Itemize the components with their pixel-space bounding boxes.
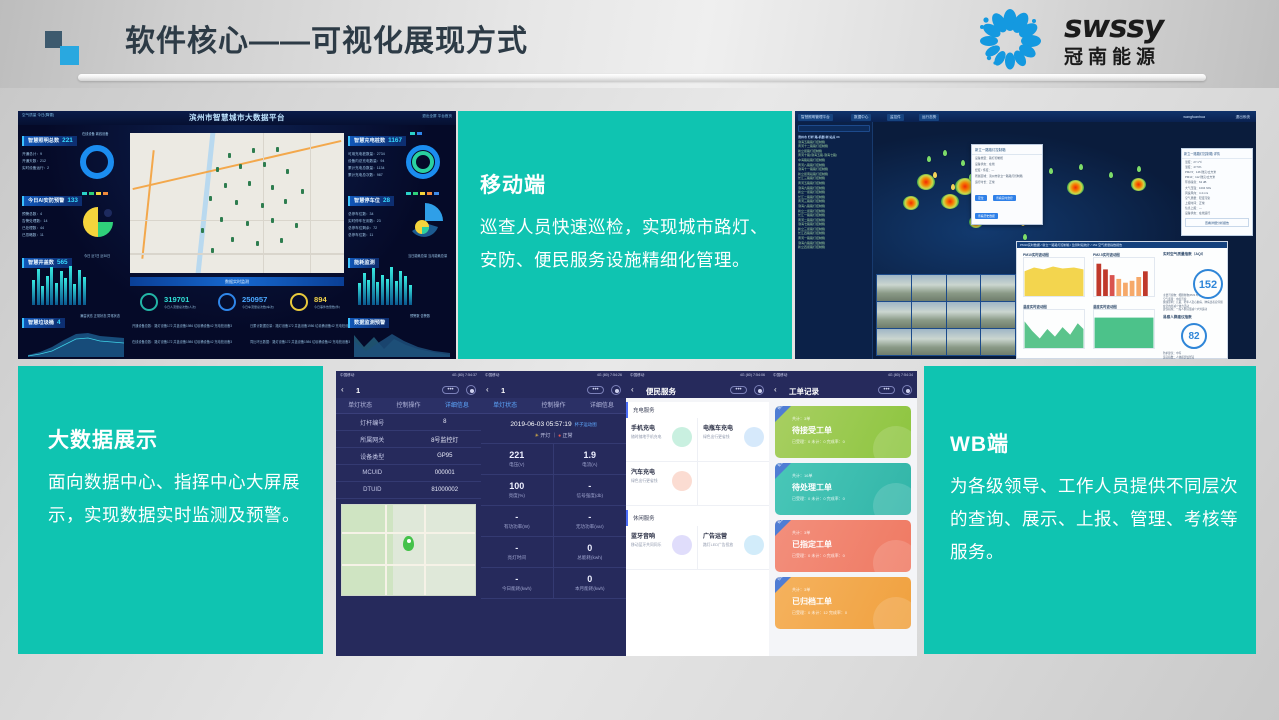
table-row: DTUID 81000002 xyxy=(336,482,481,499)
dashboard-card-manhole: 智慧井盖数565 今日 近7日 近30日 xyxy=(22,251,126,269)
camera-cell[interactable] xyxy=(947,329,981,355)
row-value: GP95 xyxy=(409,453,482,459)
logo-english-name: swssy xyxy=(1064,10,1163,44)
company-logo: swssy 冠南能源 xyxy=(964,8,1224,74)
card-title: 待处理工单 xyxy=(792,482,832,493)
service-item-ad-operation[interactable]: 广告运营 路灯LED广告投放 xyxy=(698,526,769,570)
metric-value: 221 xyxy=(481,450,553,460)
table-row: 设备类型 GP95 xyxy=(336,448,481,465)
row-value: 8 xyxy=(409,419,482,425)
phone-screenshot-public-services[interactable]: 中国移动 4G (80) 7:54:06 ‹ 便民服务 ••• 充电服务 手机充… xyxy=(626,371,769,656)
more-menu-icon[interactable]: ••• xyxy=(730,386,747,394)
tab-control[interactable]: 控制操作 xyxy=(384,398,432,413)
chart-panel-title: PM10实时数据 / 新立一路路灯控制箱 / 监测时段统计 / 152 空气质量… xyxy=(1017,242,1227,248)
card-legend xyxy=(406,191,441,195)
camera-cell[interactable] xyxy=(947,302,981,328)
card-legend: 满溢状态 正常状态 异常状态 xyxy=(80,313,120,318)
map-marker[interactable] xyxy=(220,217,223,222)
metric-cell: 221 电压(V) xyxy=(481,444,554,475)
trashbin-area-chart xyxy=(28,325,124,357)
phone-statusbar: 中国移动 4G (80) 7:54:37 xyxy=(336,371,481,381)
service-item-phone-charge[interactable]: 手机充电 随时随地手机充电 xyxy=(626,418,698,462)
charging-donut-inner xyxy=(412,151,434,173)
card-header: 智慧照明总数221 xyxy=(22,136,77,146)
phone-location-map[interactable] xyxy=(341,504,476,596)
phone-tabs[interactable]: 单灯状态 控制操作 详细信息 xyxy=(336,398,481,414)
statusbar-carrier: 中国移动 xyxy=(340,373,354,378)
card-header: 今日AI安防预警133 xyxy=(22,196,82,206)
card-decoration-blob xyxy=(873,540,911,572)
card-footer: 已受理：0 未计：0 完成率：0 xyxy=(792,496,845,502)
gis-info-panel[interactable]: 新立一路路灯控制箱 详情 温度：27.1℃ 湿度：47.5% PM2.5：146… xyxy=(1181,148,1253,236)
map-marker[interactable] xyxy=(301,189,304,194)
chart-panel-header: PM10实时数据 / 新立一路路灯控制箱 / 监测时段统计 / 152 空气质量… xyxy=(1017,242,1227,248)
lamp-state: ☀ 开灯 ｜ ● 正常 xyxy=(481,432,626,439)
pm10-plot xyxy=(1023,257,1085,297)
map-marker-green[interactable] xyxy=(961,160,965,166)
humidity-plot xyxy=(1093,309,1155,349)
lamp-metrics-grid: 221 电压(V) 1.9 电流(A) 100 亮度(%) - 信号强度(db)… xyxy=(481,444,626,599)
aqi-label-2: 易感人群建议指数 xyxy=(1163,315,1225,320)
map-marker[interactable] xyxy=(271,185,274,190)
table-row: 灯杆编号 8 xyxy=(336,414,481,431)
metric-cell: - 亮灯时间 xyxy=(481,537,554,568)
phone-nav-title: 1 xyxy=(356,386,360,395)
section-header-charging: 充电服务 xyxy=(626,402,769,418)
dashboard-topbar-actions[interactable]: 退出全屏 平台首页 xyxy=(422,114,452,119)
metric-label: 今日能耗(kwh) xyxy=(481,586,553,592)
header-divider-bar xyxy=(78,74,1206,81)
row-value: 81000002 xyxy=(409,487,482,493)
map-marker[interactable] xyxy=(280,238,283,243)
map-road xyxy=(130,253,344,254)
ebike-charge-icon xyxy=(744,427,764,447)
card-decoration-blob xyxy=(873,597,911,629)
map-marker[interactable] xyxy=(256,241,259,246)
map-marker[interactable] xyxy=(261,203,264,208)
map-marker[interactable] xyxy=(239,164,242,169)
slide-header: 软件核心——可视化展现方式 xyxy=(0,0,1279,88)
map-marker[interactable] xyxy=(271,218,274,223)
map-marker[interactable] xyxy=(295,223,298,228)
card-header: 智慧充电桩数1167 xyxy=(348,136,406,146)
service-item-car-charge[interactable]: 汽车充电 绿色出行更省钱 xyxy=(626,462,698,506)
lamp-timestamp: 2019-06-03 05:57:19杯子运动图 xyxy=(481,421,626,428)
dashboard-card-lighting: 智慧照明总数221 在线设备 离线设备 开通总计：9 开通天数：212 实时设备… xyxy=(22,129,126,172)
card-subtitle: 共计：3单 xyxy=(792,530,810,536)
map-location-pin[interactable] xyxy=(403,536,414,551)
metric-value: 100 xyxy=(481,481,553,491)
dashboard-canvas: 空气质量 今日(降雪) 滨州市智慧城市大数据平台 退出全屏 平台首页 智慧照明总… xyxy=(18,111,456,359)
camera-cell[interactable] xyxy=(877,302,911,328)
map-marker-green[interactable] xyxy=(1109,172,1113,178)
statusbar-indicators: 4G (80) 7:54:26 xyxy=(597,373,622,377)
card-subtitle: 共计：3单 xyxy=(792,416,810,422)
tab-detail[interactable]: 详细信息 xyxy=(433,398,481,413)
lighting-donut-chart xyxy=(80,145,114,179)
section-header-leisure: 休闲服务 xyxy=(626,510,769,526)
gis-nav-monitor[interactable]: 监控件 xyxy=(887,114,904,121)
phone-statusbar: 中国移动 4G (80) 7:54:34 xyxy=(769,371,917,381)
tab-lamp-status[interactable]: 单灯状态 xyxy=(336,398,384,413)
camera-grid[interactable] xyxy=(876,274,1016,356)
page-title: 软件核心——可视化展现方式 xyxy=(125,16,528,60)
lamp-timestamp-row: 2019-06-03 05:57:19杯子运动图 ☀ 开灯 ｜ ● 正常 xyxy=(481,414,626,444)
energy-bar-chart xyxy=(358,265,412,305)
gis-user-menu[interactable]: wangfuanhua xyxy=(1180,114,1208,120)
dashboard-card-trashbin: 智慧垃圾桶4 满溢状态 正常状态 异常状态 xyxy=(22,311,126,329)
heatmap-cluster xyxy=(903,196,919,210)
map-marker[interactable] xyxy=(211,248,214,253)
card-title: 已指定工单 xyxy=(792,539,832,550)
popup-history-button[interactable]: 查看历史数据 xyxy=(975,213,998,220)
mini-chart-humidity: 湿度实时波动图 xyxy=(1093,304,1155,354)
phone-screenshot-lamp-status[interactable]: 中国移动 4G (80) 7:54:26 ‹ 1 ••• 单灯状态 控制操作 详… xyxy=(481,371,626,656)
card-legend: 今日 近7日 近30日 xyxy=(84,253,110,258)
pm25-plot xyxy=(1093,257,1155,297)
map-marker[interactable] xyxy=(228,153,231,158)
close-circle-icon[interactable] xyxy=(902,385,912,395)
table-row: 所属网关 8号监控灯 xyxy=(336,431,481,448)
gis-map-canvas[interactable]: 新立一路路灯控制箱 设备类型：路灯控制柜 设备状态：在线 经度 / 纬度：— 所… xyxy=(873,122,1256,359)
tab-detail[interactable]: 详细信息 xyxy=(578,398,626,413)
service-row: 蓝牙音响 移动蓝牙共同同乐 广告运营 路灯LED广告投放 xyxy=(626,526,769,570)
ai-security-pie-chart xyxy=(78,205,118,239)
aqi-value-gauge: 152 xyxy=(1193,269,1223,299)
car-charge-icon xyxy=(672,471,692,491)
phone-statusbar: 中国移动 4G (80) 7:54:26 xyxy=(481,371,626,381)
statusbar-indicators: 4G (80) 7:54:37 xyxy=(452,373,477,377)
parking-pie-chart xyxy=(404,201,446,241)
work-order-card-archived[interactable]: 归档 共计：3单 已归档工单 已受理：0 未计：12 完成率：0 xyxy=(775,577,911,629)
metric-cell: - 无功功率(var) xyxy=(554,506,627,537)
back-icon[interactable]: ‹ xyxy=(486,385,489,394)
row-key: DTUID xyxy=(336,487,409,493)
metric-label: 亮度(%) xyxy=(481,493,553,499)
phone-nav-title: 便民服务 xyxy=(646,386,676,397)
metric-label: 无功功率(var) xyxy=(554,524,627,530)
metric-value: 0 xyxy=(554,574,627,584)
advertising-icon xyxy=(744,535,764,555)
map-marker[interactable] xyxy=(231,237,234,242)
phone-charge-icon xyxy=(672,427,692,447)
big-number-1: 319701 今日人流量总次数(人次) xyxy=(164,295,196,309)
gis-nav-status[interactable]: 运行态势 xyxy=(919,114,939,121)
big-number-3: 894 今日事件告警数(件) xyxy=(314,295,340,309)
camera-cell[interactable] xyxy=(877,329,911,355)
work-order-card-pending-process[interactable]: 处理 共计：16单 待处理工单 已受理：0 未计：0 完成率：0 xyxy=(775,463,911,515)
bluetooth-speaker-icon xyxy=(672,535,692,555)
tree-item[interactable]: 新立四街路灯控制箱 xyxy=(798,245,870,250)
gis-device-tree[interactable]: 滨州市 灯杆 路-机器 树 站点 33 渤海五路路灯控制箱 黄河十二路路灯控制箱… xyxy=(798,135,870,250)
dashboard-card-ai-security: 今日AI安防预警133 预警总数：4 告警处理数：14 已处理数：44 已忽略数… xyxy=(22,189,126,239)
map-marker-green[interactable] xyxy=(927,156,931,162)
phone-navbar: ‹ 便民服务 ••• xyxy=(626,381,769,398)
mobile-panel-body: 巡查人员快速巡检，实现城市路灯、安防、便民服务设施精细化管理。 xyxy=(480,211,780,277)
dashboard-city-map[interactable] xyxy=(130,133,344,273)
map-road xyxy=(130,220,344,221)
row-key: MCUID xyxy=(336,470,409,476)
tab-control[interactable]: 控制操作 xyxy=(529,398,577,413)
camera-cell[interactable] xyxy=(981,275,1015,301)
metric-label: 信号强度(db) xyxy=(554,493,627,499)
water-drop-radial-logo-icon xyxy=(964,8,1056,74)
service-item-bluetooth-audio[interactable]: 蓝牙音响 移动蓝牙共同同乐 xyxy=(626,526,698,570)
phone-nav-title: 工单记录 xyxy=(789,386,819,397)
gis-topbar: 智慧照明管理平台 数据中心 监控件 运行态势 wangfuanhua 退出系统 xyxy=(795,111,1256,122)
mobile-text-block: 移动端 巡查人员快速巡检，实现城市路灯、安防、便民服务设施精细化管理。 xyxy=(480,169,780,277)
close-circle-icon[interactable] xyxy=(754,385,764,395)
temp-plot xyxy=(1023,309,1085,349)
flow-donut-3 xyxy=(290,293,308,311)
camera-cell[interactable] xyxy=(981,302,1015,328)
dashboard-screenshot-panel[interactable]: 空气质量 今日(降雪) 滨州市智慧城市大数据平台 退出全屏 平台首页 智慧照明总… xyxy=(18,111,456,359)
camera-cell[interactable] xyxy=(947,275,981,301)
map-marker[interactable] xyxy=(248,181,251,186)
wb-text-block: WB端 为各级领导、工作人员提供不同层次的查询、展示、上报、管理、考核等服务。 xyxy=(950,428,1240,569)
metric-label: 有功功率(W) xyxy=(481,524,553,530)
gis-canvas: 智慧照明管理平台 数据中心 监控件 运行态势 wangfuanhua 退出系统 … xyxy=(795,111,1256,359)
metric-cell: 0 总能耗(kwh) xyxy=(554,537,627,568)
dashboard-card-parking: 智慧停车位28 总停车位数：34 实时停车在用数：23 总停车位剩余：72 总停… xyxy=(348,189,452,239)
close-circle-icon[interactable] xyxy=(466,385,476,395)
map-marker-green[interactable] xyxy=(943,150,947,156)
map-marker[interactable] xyxy=(276,147,279,152)
metric-value: - xyxy=(481,574,553,584)
decoration-square-blue xyxy=(60,46,79,65)
row-key: 灯杆编号 xyxy=(336,418,409,427)
metric-label: 本月能耗(kwh) xyxy=(554,586,627,592)
header-decoration-squares xyxy=(45,31,79,65)
card-legend: 当日能耗总量 当月能耗总量 xyxy=(408,253,447,258)
map-device-popup[interactable]: 新立一路路灯控制箱 设备类型：路灯控制柜 设备状态：在线 经度 / 纬度：— 所… xyxy=(971,144,1043,225)
service-row: 汽车充电 绿色出行更省钱 xyxy=(626,462,769,506)
popup-live-button[interactable]: 查看实时监控 xyxy=(993,195,1016,202)
service-item-empty xyxy=(698,462,769,506)
map-road xyxy=(385,505,387,595)
metric-cell: 100 亮度(%) xyxy=(481,475,554,506)
card-legend: 预警数 告警数 xyxy=(410,313,430,318)
phone-statusbar: 中国移动 4G (80) 7:54:06 xyxy=(626,371,769,381)
card-legend xyxy=(82,191,110,195)
statusbar-carrier: 中国移动 xyxy=(485,373,499,378)
metric-label: 亮灯时间 xyxy=(481,555,553,561)
logo-wordmark: swssy 冠南能源 xyxy=(1064,10,1163,70)
more-menu-icon[interactable]: ••• xyxy=(442,386,459,394)
popup-title: 新立一路路灯控制箱 xyxy=(972,145,1042,155)
big-number-2: 250957 今日车流量总次数(车次) xyxy=(242,295,274,309)
dashboard-footer-line-2: 日累计数据总量：路灯设备172 井盖设备1986 垃圾桶设备42 充电桩设备3 xyxy=(250,323,353,328)
close-circle-icon[interactable] xyxy=(611,385,621,395)
heatmap-cluster xyxy=(941,194,959,209)
gis-sidebar: 滨州市 灯杆 路-机器 树 站点 33 渤海五路路灯控制箱 黄河十二路路灯控制箱… xyxy=(795,122,873,359)
work-order-card-pending-accept[interactable]: 待办 共计：3单 待接受工单 已受理：0 未计：0 完成率：0 xyxy=(775,406,911,458)
gis-logout-button[interactable]: 退出系统 xyxy=(1233,114,1253,121)
card-footer: 已受理：0 未计：0 完成率：0 xyxy=(792,439,845,445)
more-menu-icon[interactable]: ••• xyxy=(587,386,604,394)
aqi-block: 实时空气质量指数（AQI） 152 主要污染物：细颗粒物(PM2.5)空气质量：… xyxy=(1163,252,1225,359)
mobile-panel-title: 移动端 xyxy=(480,169,780,199)
metric-value: 0 xyxy=(554,543,627,553)
gis-platform-screenshot-panel[interactable]: 智慧照明管理平台 数据中心 监控件 运行态势 wangfuanhua 退出系统 … xyxy=(795,111,1256,359)
lamp-normal-icon: ● xyxy=(558,433,561,439)
device-detail-table: 灯杆编号 8 所属网关 8号监控灯 设备类型 GP95 MCUID 000001… xyxy=(336,414,481,499)
metric-cell: - 有功功率(W) xyxy=(481,506,554,537)
bigdata-text-block: 大数据展示 面向数据中心、指挥中心大屏展示，实现数据实时监测及预警。 xyxy=(48,424,306,532)
map-marker[interactable] xyxy=(286,169,289,174)
logo-chinese-name: 冠南能源 xyxy=(1064,46,1163,70)
phone-navbar: ‹ 工单记录 ••• xyxy=(769,381,917,398)
map-road xyxy=(310,133,311,273)
aqi-desc-2: 防护建议：中等适宜指数：人体感觉较舒适紫外线指数：建议防晒出行 xyxy=(1163,352,1225,359)
map-road xyxy=(342,564,475,566)
row-key: 设备类型 xyxy=(336,452,409,461)
metric-label: 电流(A) xyxy=(554,462,627,468)
camera-cell[interactable] xyxy=(912,302,946,328)
air-quality-chart-panel[interactable]: PM10实时数据 / 新立一路路灯控制箱 / 监测时段统计 / 152 空气质量… xyxy=(1016,241,1228,359)
card-decoration-blob xyxy=(873,483,911,515)
map-marker-green[interactable] xyxy=(1049,168,1053,174)
map-marker-yellow[interactable] xyxy=(933,172,937,178)
card-legend xyxy=(410,131,424,135)
metric-value: - xyxy=(481,543,553,553)
phone-navbar: ‹ 1 ••• xyxy=(336,381,481,398)
wb-panel-title: WB端 xyxy=(950,428,1240,458)
map-marker-green[interactable] xyxy=(1023,234,1027,240)
alarm-area-chart xyxy=(354,325,450,357)
card-subtitle: 共计：16单 xyxy=(792,473,812,479)
aqi-label: 实时空气质量指数（AQI） xyxy=(1163,252,1225,257)
camera-cell[interactable] xyxy=(912,329,946,355)
card-title: 待接受工单 xyxy=(792,425,832,436)
map-marker[interactable] xyxy=(224,183,227,188)
row-key: 所属网关 xyxy=(336,435,409,444)
service-row: 手机充电 随时随地手机充电 电瓶车充电 绿色出行更省钱 xyxy=(626,418,769,462)
dashboard-footer-line-4: 同比环比数据：路灯设备172 井盖设备1986 垃圾桶设备42 充电桩设备3 xyxy=(250,339,350,344)
card-decoration-blob xyxy=(873,426,911,458)
bigdata-panel-body: 面向数据中心、指挥中心大屏展示，实现数据实时监测及预警。 xyxy=(48,466,306,532)
flow-donut-1 xyxy=(140,293,158,311)
phone-nav-title: 1 xyxy=(501,386,505,395)
bigdata-panel-title: 大数据展示 xyxy=(48,424,306,454)
card-title: 已归档工单 xyxy=(792,596,832,607)
map-road xyxy=(424,505,426,595)
tab-lamp-status[interactable]: 单灯状态 xyxy=(481,398,529,413)
metric-cell: - 信号强度(db) xyxy=(554,475,627,506)
statusbar-carrier: 中国移动 xyxy=(630,373,644,378)
mobile-terminal-text-panel: 移动端 巡查人员快速巡检，实现城市路灯、安防、便民服务设施精细化管理。 xyxy=(458,111,792,359)
dashboard-center-bar: 数据实时监测 xyxy=(130,277,344,286)
bigdata-text-panel: 大数据展示 面向数据中心、指挥中心大屏展示，实现数据实时监测及预警。 xyxy=(18,366,323,654)
map-road xyxy=(342,532,475,534)
map-highway-2 xyxy=(141,150,155,259)
card-subtitle: 共计：3单 xyxy=(792,587,810,593)
dashboard-big-numbers: 319701 今日人流量总次数(人次) 250957 今日车流量总次数(车次) … xyxy=(130,291,344,317)
map-marker[interactable] xyxy=(216,167,219,172)
map-marker[interactable] xyxy=(235,200,238,205)
info-panel-title: 新立一路路灯控制箱 详情 xyxy=(1182,149,1252,159)
row-value: 000001 xyxy=(409,470,482,476)
more-menu-icon[interactable]: ••• xyxy=(878,386,895,394)
dashboard-title: 滨州市智慧城市大数据平台 xyxy=(18,112,456,123)
heatmap-cluster xyxy=(1131,178,1146,191)
gis-nav-datacenter[interactable]: 数据中心 xyxy=(851,114,871,121)
dashboard-topbar: 空气质量 今日(降雪) 滨州市智慧城市大数据平台 退出全屏 平台首页 xyxy=(18,111,456,125)
mini-chart-temp: 温度实时波动图 xyxy=(1023,304,1085,354)
map-marker-yellow[interactable] xyxy=(951,184,955,190)
card-footer: 已受理：0 未计：12 完成率：0 xyxy=(792,610,847,616)
camera-cell[interactable] xyxy=(981,329,1015,355)
lamp-on-icon: ☀ xyxy=(534,433,538,439)
metric-value: - xyxy=(554,512,627,522)
map-marker-green[interactable] xyxy=(1137,166,1141,172)
metric-cell: - 今日能耗(kwh) xyxy=(481,568,554,599)
phone-tabs[interactable]: 单灯状态 控制操作 详细信息 xyxy=(481,398,626,414)
back-icon[interactable]: ‹ xyxy=(774,385,777,394)
back-icon[interactable]: ‹ xyxy=(341,385,344,394)
card-footer: 已受理：0 未计：0 完成率：0 xyxy=(792,553,845,559)
dashboard-footer-line-1: 开通设备总数：路灯设备172 井盖设备1986 垃圾桶设备42 充电桩设备3 xyxy=(132,323,232,328)
map-marker[interactable] xyxy=(201,228,204,233)
wb-panel-body: 为各级领导、工作人员提供不同层次的查询、展示、上报、管理、考核等服务。 xyxy=(950,470,1240,569)
statusbar-carrier: 中国移动 xyxy=(773,373,787,378)
card-header: 智慧停车位28 xyxy=(348,196,394,206)
popup-locate-button[interactable]: 定位 xyxy=(975,195,987,202)
mini-chart-pm10: PM10实时波动图 xyxy=(1023,252,1085,302)
phone-screenshot-work-orders[interactable]: 中国移动 4G (80) 7:54:34 ‹ 工单记录 ••• 待办 共计：3单… xyxy=(769,371,917,656)
mini-chart-pm25: PM2.5实时波动图 xyxy=(1093,252,1155,302)
row-value: 8号监控灯 xyxy=(409,435,482,444)
dashboard-footer-line-3: 在线设备总数：路灯设备172 井盖设备1986 垃圾桶设备42 充电桩设备3 xyxy=(132,339,232,344)
dashboard-card-alarm: 数据监测预警 预警数 告警数 xyxy=(348,311,452,329)
statusbar-indicators: 4G (80) 7:54:34 xyxy=(888,373,913,377)
map-marker[interactable] xyxy=(252,148,255,153)
work-order-card-assigned[interactable]: 指定 共计：3单 已指定工单 已受理：0 未计：0 完成率：0 xyxy=(775,520,911,572)
flow-donut-2 xyxy=(218,293,236,311)
map-marker[interactable] xyxy=(246,221,249,226)
metric-value: - xyxy=(554,481,627,491)
card-legend: 在线设备 离线设备 xyxy=(82,131,108,136)
metric-label: 总能耗(kwh) xyxy=(554,555,627,561)
dashboard-card-energy: 能耗监测 当日能耗总量 当月能耗总量 xyxy=(348,251,452,269)
service-item-ebike-charge[interactable]: 电瓶车充电 绿色出行更省钱 xyxy=(698,418,769,462)
map-marker-green[interactable] xyxy=(1079,164,1083,170)
metric-value: 1.9 xyxy=(554,450,627,460)
info-row: 设备状态：在线运行 xyxy=(1182,211,1252,216)
metric-cell: 0 本月能耗(kwh) xyxy=(554,568,627,599)
phone-screenshot-device-detail[interactable]: 中国移动 4G (80) 7:54:37 ‹ 1 ••• 单灯状态 控制操作 详… xyxy=(336,371,481,656)
heatmap-cluster xyxy=(1067,180,1084,195)
map-marker[interactable] xyxy=(284,199,287,204)
info-panel-report-button[interactable]: 查看详细分析报告 xyxy=(1185,218,1249,227)
camera-cell[interactable] xyxy=(877,275,911,301)
phone-navbar: ‹ 1 ••• xyxy=(481,381,626,398)
gis-nav-platform[interactable]: 智慧照明管理平台 xyxy=(798,114,833,121)
camera-cell[interactable] xyxy=(912,275,946,301)
manhole-bar-chart xyxy=(32,265,86,305)
statusbar-indicators: 4G (80) 7:54:06 xyxy=(740,373,765,377)
wb-terminal-text-panel: WB端 为各级领导、工作人员提供不同层次的查询、展示、上报、管理、考核等服务。 xyxy=(924,366,1256,654)
back-icon[interactable]: ‹ xyxy=(631,385,634,394)
map-marker[interactable] xyxy=(209,196,212,201)
dashboard-card-charging: 智慧充电桩数1167 可用充电桩数量：2734 设备内总充电数量：94 累计充电… xyxy=(348,129,452,179)
table-row: MCUID 000001 xyxy=(336,465,481,482)
metric-cell: 1.9 电流(A) xyxy=(554,444,627,475)
gis-search-input[interactable] xyxy=(798,125,870,132)
metric-label: 电压(V) xyxy=(481,462,553,468)
map-marker[interactable] xyxy=(263,162,266,167)
metric-value: - xyxy=(481,512,553,522)
